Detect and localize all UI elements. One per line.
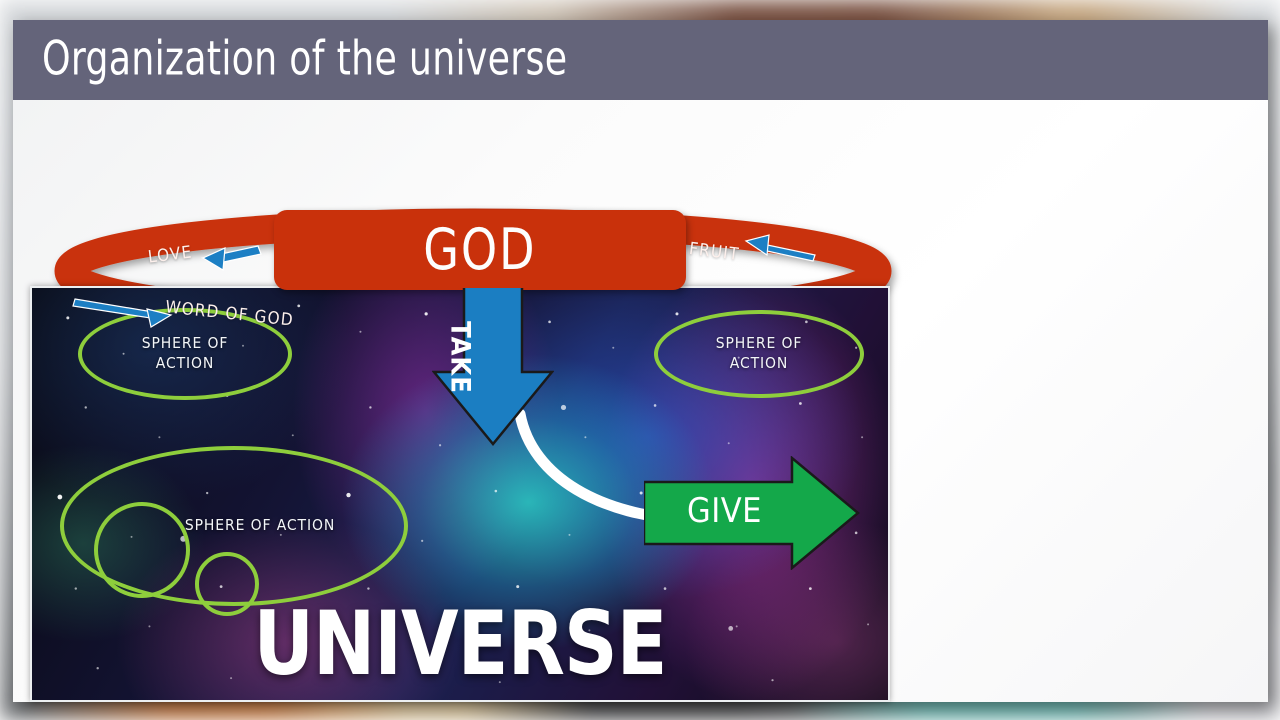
word-of-god-arrow-icon [73,299,171,327]
give-label: GIVE [687,491,762,531]
presentation-slide: Organization of the universe GOD LOVE WO… [13,20,1268,702]
slide-content-area: GOD LOVE WORD OF GOD FRUIT [13,100,1268,702]
sphere-inner-large[interactable] [94,502,190,598]
slide-title-bar: Organization of the universe [13,20,1268,100]
fruit-arrow-icon [746,235,815,261]
love-arrow-icon [203,246,261,270]
sphere-label: SPHERE OF ACTION [185,516,335,536]
take-label: TAKE [445,321,476,394]
page-title: Organization of the universe [42,31,567,86]
universe-label: UNIVERSE [58,592,863,695]
